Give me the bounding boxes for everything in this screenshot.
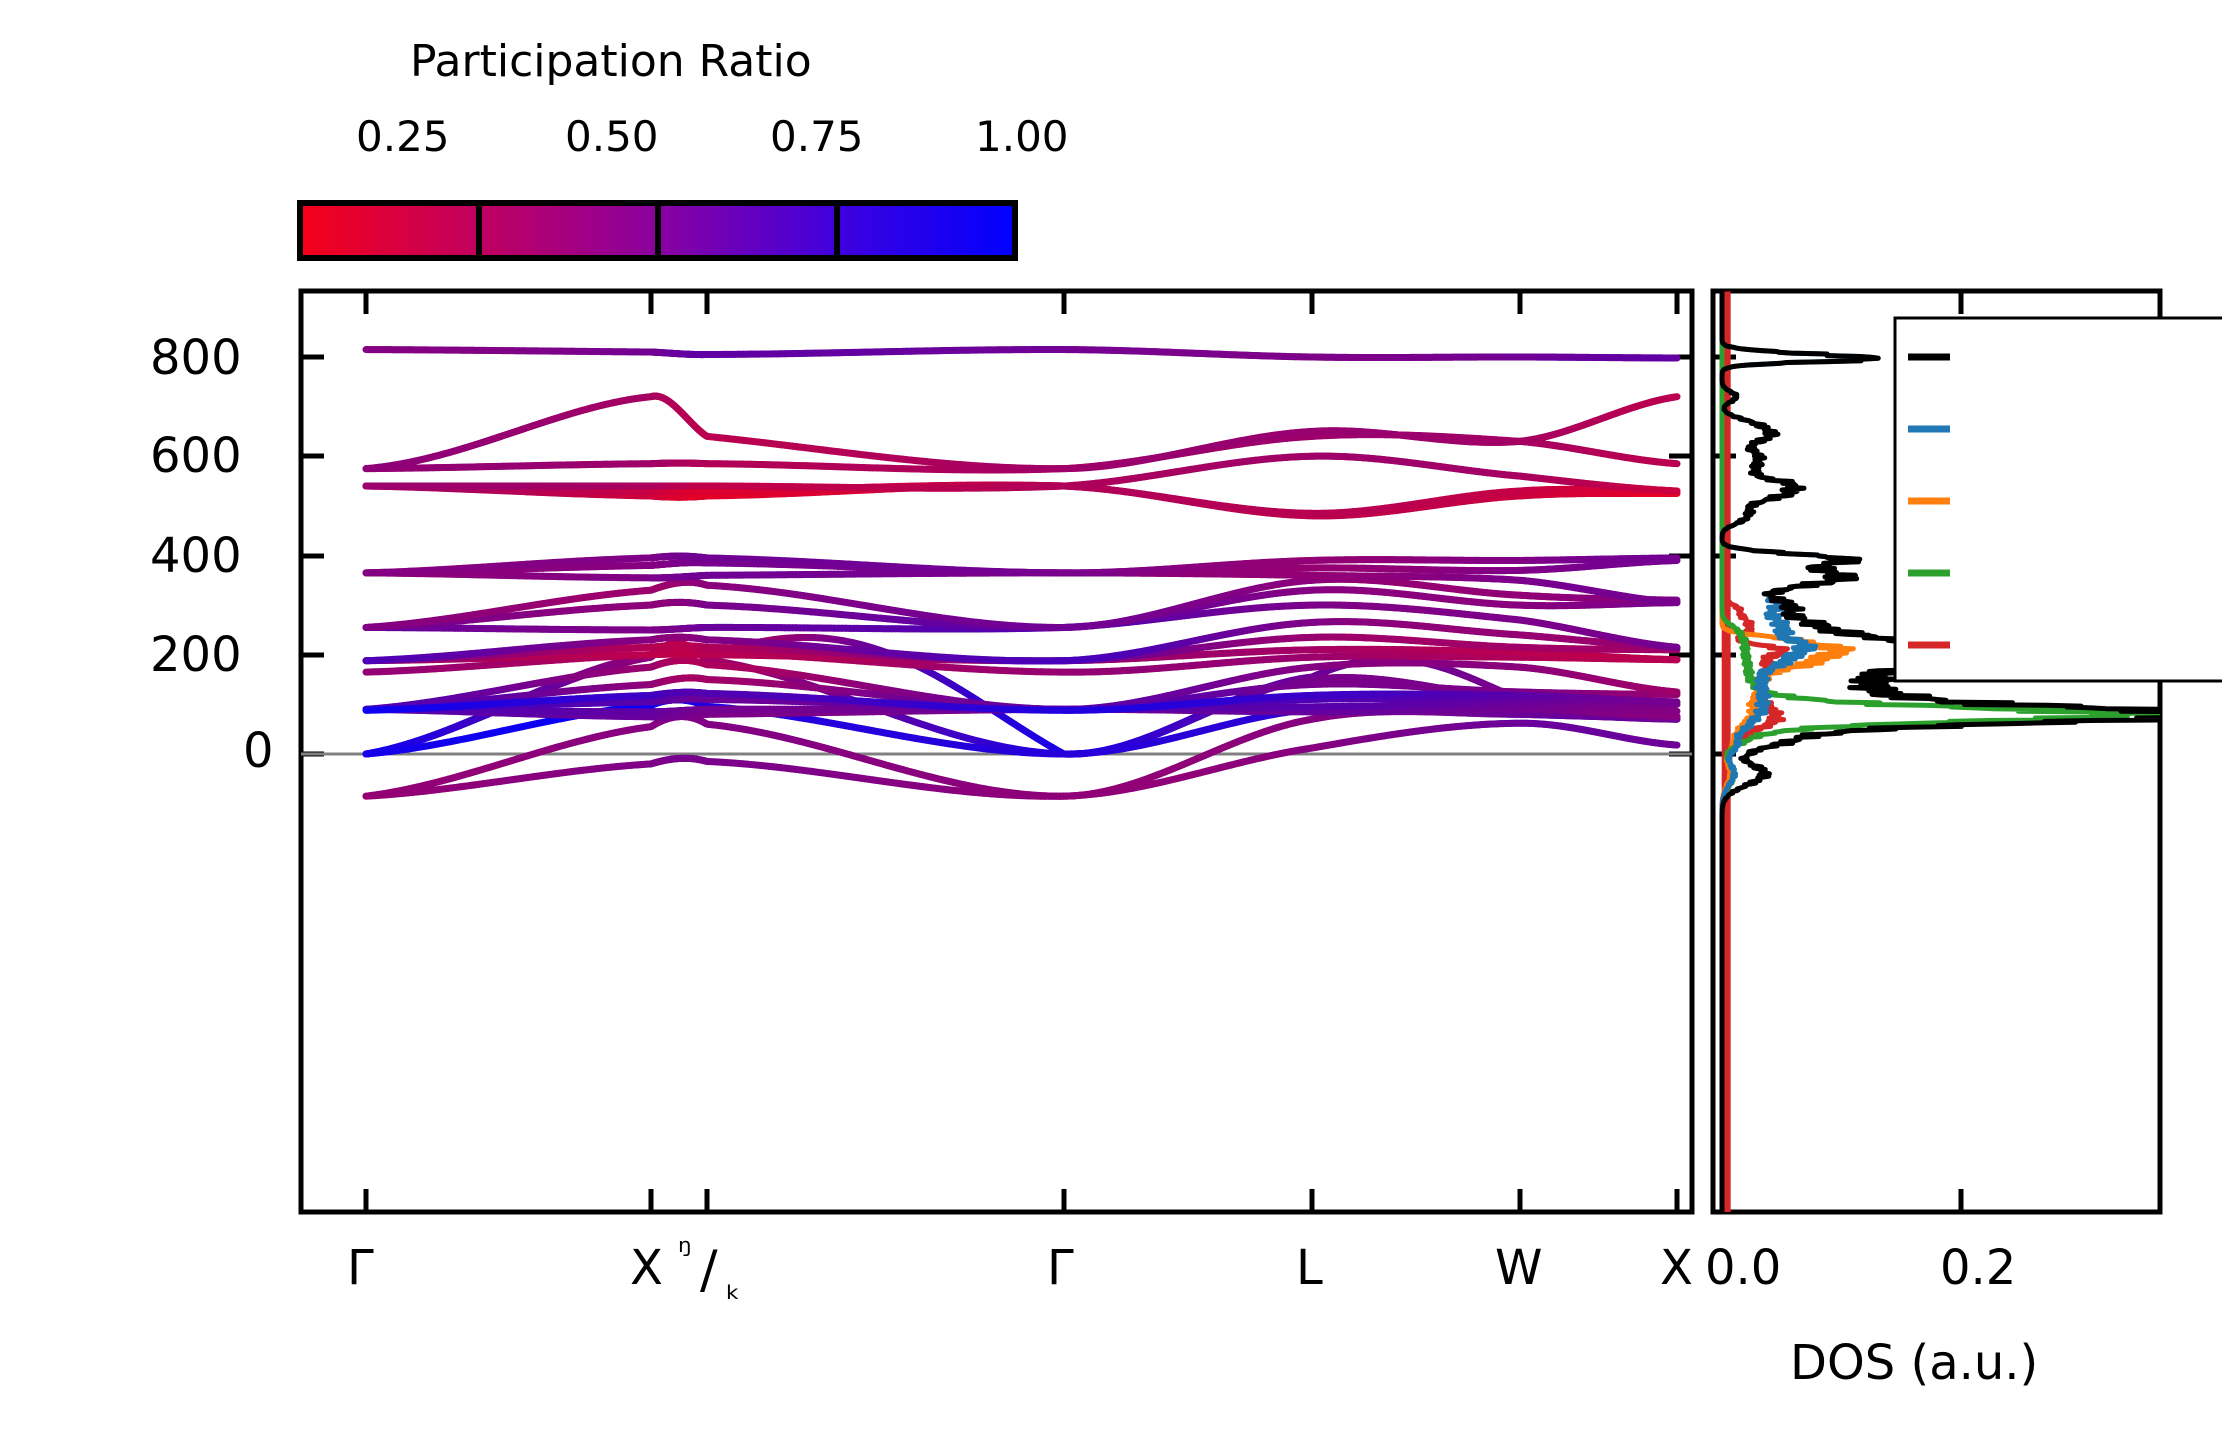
colorbar <box>300 203 1015 258</box>
figure-canvas: Participation Ratio 0.25 0.50 0.75 1.00 … <box>0 0 2222 1455</box>
phonon-band-curves <box>366 350 1677 797</box>
figure-graphics <box>0 0 2222 1455</box>
dos-legend <box>1895 318 2222 681</box>
